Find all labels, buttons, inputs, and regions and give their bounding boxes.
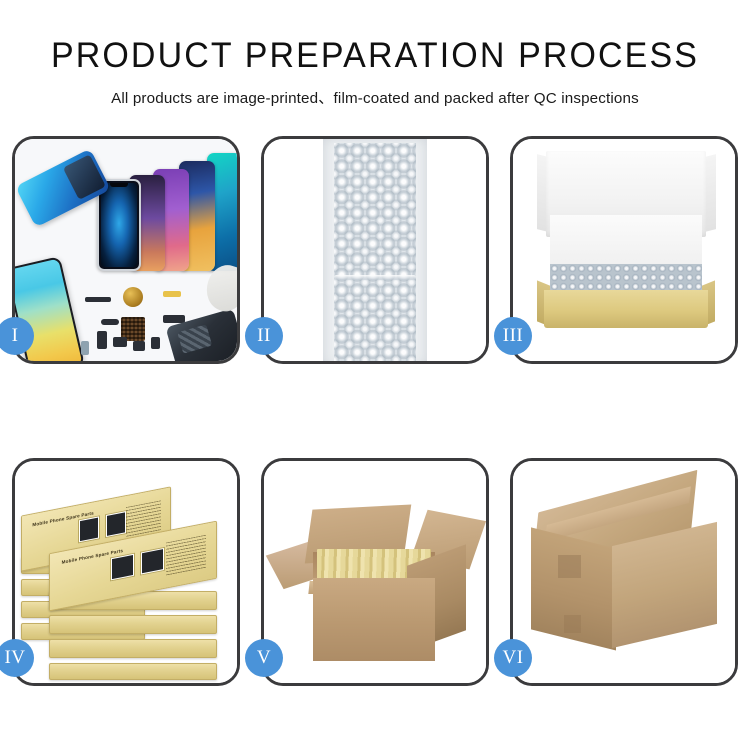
page-subtitle: All products are image-printed、film-coat… xyxy=(0,86,750,108)
phone-notch xyxy=(110,183,128,187)
part-camera-module xyxy=(133,341,145,351)
part-vibration-motor xyxy=(123,287,143,307)
bubble-wrap-pouch-graphic xyxy=(323,139,427,361)
stacked-box-slab xyxy=(49,615,217,634)
step-panel-4: Mobile Phone Spare Parts Mobile Phone Sp… xyxy=(12,458,240,686)
part-connector-a xyxy=(97,331,107,349)
box-printed-screen-a xyxy=(110,552,135,581)
pouch-seam xyxy=(334,275,416,280)
step-panel-1: I xyxy=(12,136,240,364)
step-panel-5: V xyxy=(261,458,489,686)
open-shipping-carton-graphic xyxy=(278,501,474,661)
part-speaker-mesh xyxy=(101,319,119,325)
part-sim-tray xyxy=(151,337,160,349)
step-5-image xyxy=(264,461,486,683)
open-inner-box-graphic xyxy=(531,151,721,339)
part-battery-cell xyxy=(81,341,89,355)
step-panel-6: VI xyxy=(510,458,738,686)
bubble-wrap-texture xyxy=(334,143,416,361)
carton-handle-tab-lower xyxy=(564,615,581,633)
step-badge-2: II xyxy=(245,317,283,355)
step-badge-3: III xyxy=(494,317,532,355)
stacked-box-slab xyxy=(49,663,217,680)
spare-parts-graphic xyxy=(77,271,237,361)
stacked-box-slab xyxy=(49,639,217,658)
step-badge-5: V xyxy=(245,639,283,677)
step-3-image xyxy=(513,139,735,361)
page-header: PRODUCT PREPARATION PROCESS All products… xyxy=(0,0,750,108)
box-front-panel xyxy=(544,290,707,328)
page-title: PRODUCT PREPARATION PROCESS xyxy=(11,36,739,76)
carton-handle-tab-upper xyxy=(558,555,581,578)
box-printed-screen-b xyxy=(105,510,127,538)
part-antenna-strip xyxy=(85,297,111,302)
process-step-grid: I II III xyxy=(12,136,738,686)
step-1-image xyxy=(15,139,237,361)
step-2-image xyxy=(264,139,486,361)
step-6-image xyxy=(513,461,735,683)
sealed-shipping-carton-graphic xyxy=(527,485,721,661)
box-stack-graphic: Mobile Phone Spare Parts Mobile Phone Sp… xyxy=(21,479,229,673)
step-4-image: Mobile Phone Spare Parts Mobile Phone Sp… xyxy=(15,461,237,683)
box-printed-screen-a xyxy=(78,515,100,543)
carton-front-panel xyxy=(313,578,435,661)
part-flex-cable-a xyxy=(163,291,181,297)
part-connector-b xyxy=(113,337,127,347)
step-badge-6: VI xyxy=(494,639,532,677)
step-panel-2: II xyxy=(261,136,489,364)
step-panel-3: III xyxy=(510,136,738,364)
box-printed-screen-b xyxy=(140,546,165,575)
